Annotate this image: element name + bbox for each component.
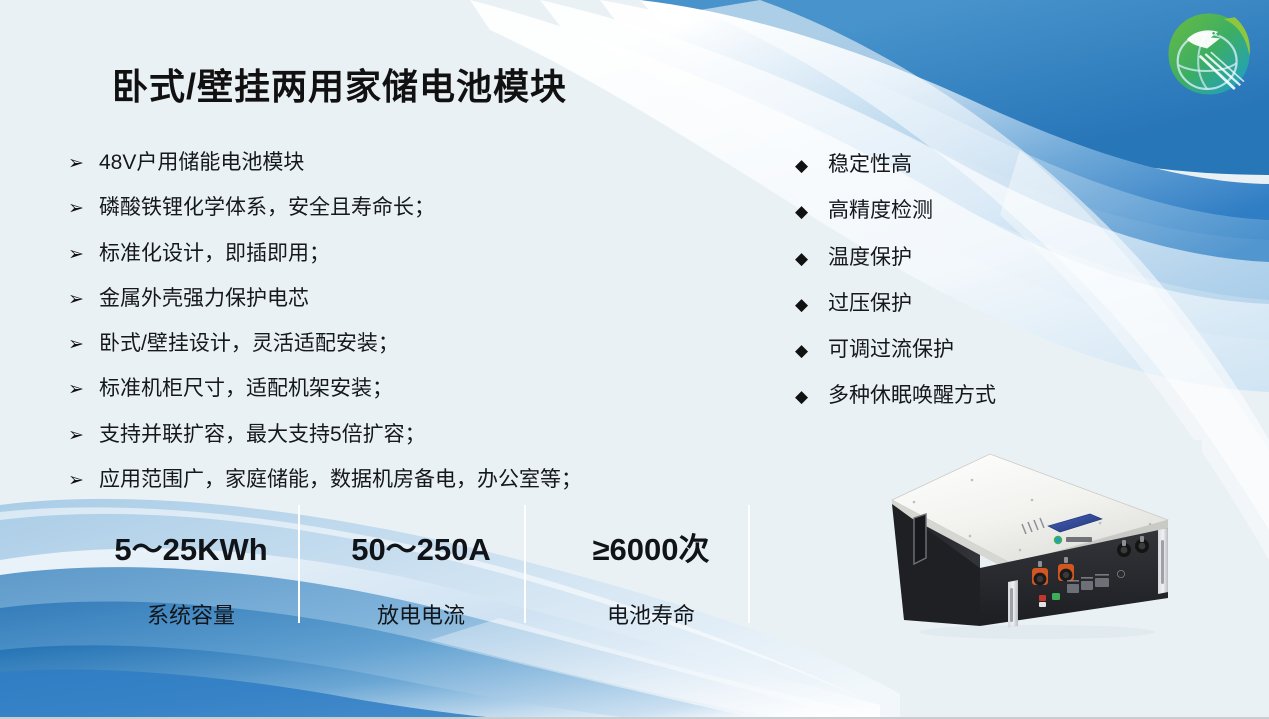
features-left-list: ➢ 48V户用储能电池模块 ➢ 磷酸铁锂化学体系，安全且寿命长； ➢ 标准化设计… (68, 150, 748, 512)
list-item: ➢ 金属外壳强力保护电芯 (68, 286, 748, 312)
list-item-label: 稳定性高 (828, 152, 912, 178)
stat-label: 系统容量 (147, 598, 235, 630)
list-item: ◆ 温度保护 (795, 245, 1125, 271)
list-item-label: 标准机柜尺寸，适配机架安装； (99, 376, 393, 402)
list-item: ◆ 稳定性高 (795, 152, 1125, 178)
stat-cycle-life: ≥6000次 电池寿命 (536, 516, 766, 626)
arrow-bullet-icon: ➢ (68, 469, 99, 493)
stat-value: 50～250A (351, 524, 491, 569)
list-item: ◆ 过压保护 (795, 291, 1125, 317)
arrow-bullet-icon: ➢ (68, 333, 99, 357)
list-item-label: 可调过流保护 (828, 337, 954, 363)
stat-capacity: 5～25KWh 系统容量 (76, 516, 306, 626)
list-item: ➢ 卧式/壁挂设计，灵活适配安装； (68, 331, 748, 357)
diamond-bullet-icon: ◆ (795, 294, 828, 315)
list-item-label: 温度保护 (828, 245, 912, 271)
list-item: ◆ 高精度检测 (795, 198, 1125, 224)
diamond-bullet-icon: ◆ (795, 386, 828, 407)
list-item-label: 多种休眠唤醒方式 (828, 383, 996, 409)
list-item-label: 高精度检测 (828, 198, 933, 224)
arrow-bullet-icon: ➢ (68, 424, 99, 448)
list-item-label: 应用范围广，家庭储能，数据机房备电，办公室等； (99, 467, 582, 493)
list-item-label: 标准化设计，即插即用； (99, 241, 330, 267)
stat-value: 5～25KWh (114, 524, 267, 569)
list-item: ➢ 标准化设计，即插即用； (68, 241, 748, 267)
diamond-bullet-icon: ◆ (795, 248, 828, 269)
key-specs-row: 5～25KWh 系统容量 50～250A 放电电流 ≥6000次 电池寿命 (76, 516, 766, 626)
arrow-bullet-icon: ➢ (68, 152, 99, 176)
page-title: 卧式/壁挂两用家储电池模块 (112, 58, 567, 110)
list-item: ➢ 支持并联扩容，最大支持5倍扩容； (68, 422, 748, 448)
arrow-bullet-icon: ➢ (68, 378, 99, 402)
stat-label: 电池寿命 (607, 598, 695, 630)
diamond-bullet-icon: ◆ (795, 340, 828, 361)
list-item-label: 金属外壳强力保护电芯 (99, 286, 309, 312)
list-item-label: 过压保护 (828, 291, 912, 317)
product-image-battery-module (862, 440, 1202, 655)
slide-canvas: 卧式/壁挂两用家储电池模块 ➢ 48V户用储能电池模块 ➢ 磷酸铁锂化学体系，安… (0, 0, 1269, 719)
list-item: ➢ 48V户用储能电池模块 (68, 150, 748, 176)
features-right-list: ◆ 稳定性高 ◆ 高精度检测 ◆ 温度保护 ◆ 过压保护 ◆ 可调过流保护 ◆ … (795, 152, 1125, 430)
list-item-label: 卧式/壁挂设计，灵活适配安装； (99, 331, 399, 357)
list-item: ◆ 可调过流保护 (795, 337, 1125, 363)
arrow-bullet-icon: ➢ (68, 197, 99, 221)
arrow-bullet-icon: ➢ (68, 288, 99, 312)
stat-discharge-current: 50～250A 放电电流 (306, 516, 536, 626)
diamond-bullet-icon: ◆ (795, 201, 828, 222)
list-item: ➢ 磷酸铁锂化学体系，安全且寿命长； (68, 195, 748, 221)
list-item: ◆ 多种休眠唤醒方式 (795, 383, 1125, 409)
list-item: ➢ 标准机柜尺寸，适配机架安装； (68, 376, 748, 402)
list-item-label: 磷酸铁锂化学体系，安全且寿命长； (99, 195, 435, 221)
list-item-label: 支持并联扩容，最大支持5倍扩容； (99, 422, 426, 448)
diamond-bullet-icon: ◆ (795, 155, 828, 176)
stat-value: ≥6000次 (593, 524, 710, 569)
list-item-label: 48V户用储能电池模块 (99, 150, 304, 176)
stat-label: 放电电流 (377, 598, 465, 630)
list-item: ➢ 应用范围广，家庭储能，数据机房备电，办公室等； (68, 467, 748, 493)
company-logo (1163, 8, 1255, 100)
arrow-bullet-icon: ➢ (68, 243, 99, 267)
